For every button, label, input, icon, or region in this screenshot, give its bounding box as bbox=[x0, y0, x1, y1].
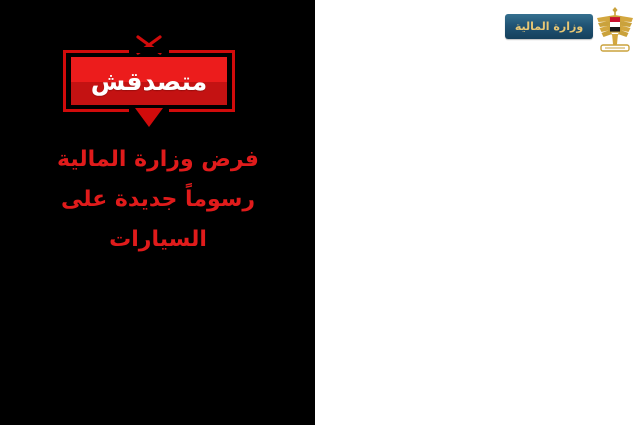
false-badge: متصدقش bbox=[63, 50, 235, 112]
false-claim-panel: متصدقش فرض وزارة المالية رسوماً جديدة عل… bbox=[0, 0, 315, 425]
ministry-ribbon-icon: وزارة المالية bbox=[505, 14, 593, 39]
false-badge-label: متصدقش bbox=[91, 69, 207, 94]
false-down-arrow-icon bbox=[134, 108, 164, 128]
ministry-of-finance-logo: وزارة المالية bbox=[505, 4, 637, 54]
false-claim-text: فرض وزارة المالية رسوماً جديدة على السيا… bbox=[18, 140, 298, 260]
true-fact-panel: وزارة المالية bbox=[315, 0, 640, 425]
eagle-of-saladin-emblem-icon bbox=[593, 4, 637, 54]
ministry-ribbon-label: وزارة المالية bbox=[505, 14, 593, 39]
false-badge-banner: متصدقش bbox=[71, 57, 227, 105]
fact-check-card: متصدقش فرض وزارة المالية رسوماً جديدة عل… bbox=[0, 0, 640, 425]
false-frame-gap-top bbox=[129, 47, 169, 53]
